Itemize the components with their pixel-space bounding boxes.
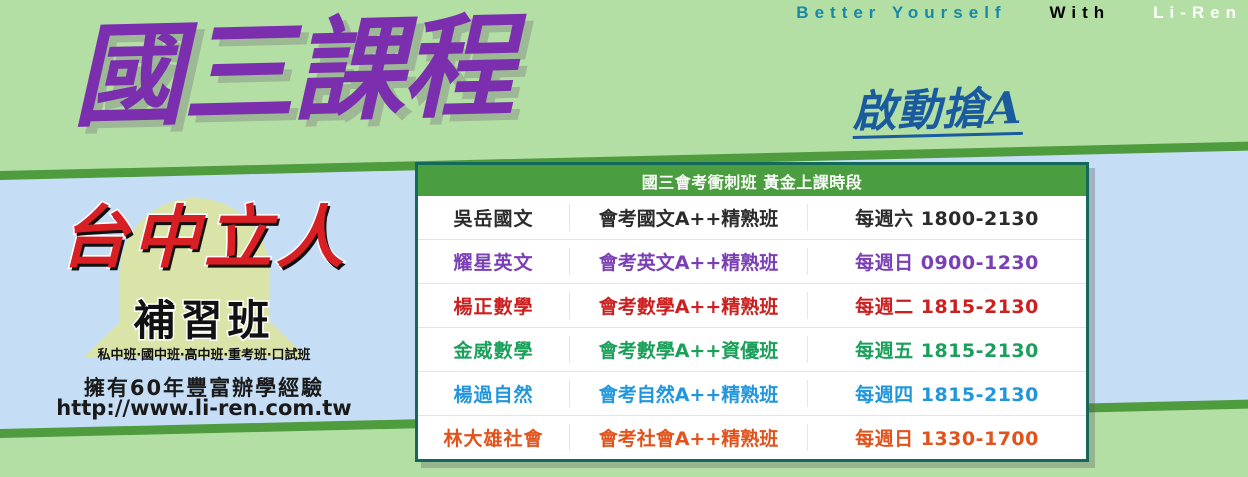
cell-time: 每週六 1800-2130 [808,204,1086,231]
cell-teacher: 金威數學 [418,336,570,363]
table-row: 金威數學會考數學A++資優班每週五 1815-2130 [418,328,1086,372]
cell-course: 會考數學A++資優班 [570,336,808,363]
table-row: 楊正數學會考數學A++精熟班每週二 1815-2130 [418,284,1086,328]
tagline-part-two: With [1050,3,1111,22]
tagline-part-three: Li-Ren [1153,3,1242,22]
table-row: 吳岳國文會考國文A++精熟班每週六 1800-2130 [418,196,1086,240]
cell-time: 每週日 0900-1230 [808,248,1086,275]
schedule-table-header: 國三會考衝刺班 黃金上課時段 [418,165,1086,196]
cell-time: 每週五 1815-2130 [808,336,1086,363]
brand-tagline: Better Yourself With Li-Ren [796,3,1242,23]
promo-poster: Better Yourself With Li-Ren 國三課程 啟動搶A 台中… [0,0,1248,477]
school-logo: 台中立人 補習班 私中班‧國中班‧高中班‧重考班‧口試班 擁有60年豐富辦學經驗… [28,196,380,420]
logo-school-name: 台中立人 [28,204,380,272]
logo-class-list: 私中班‧國中班‧高中班‧重考班‧口試班 [28,344,380,363]
cell-teacher: 楊正數學 [418,292,570,319]
cell-time: 每週二 1815-2130 [808,292,1086,319]
cell-course: 會考數學A++精熟班 [570,292,808,319]
table-row: 林大雄社會會考社會A++精熟班每週日 1330-1700 [418,416,1086,459]
logo-school-type: 補習班 [28,300,380,342]
logo-website-url[interactable]: http://www.li-ren.com.tw [28,396,380,420]
schedule-table-body: 吳岳國文會考國文A++精熟班每週六 1800-2130耀星英文會考英文A++精熟… [418,196,1086,459]
page-subtitle: 啟動搶A [851,72,1023,140]
cell-teacher: 林大雄社會 [418,424,570,451]
table-row: 耀星英文會考英文A++精熟班每週日 0900-1230 [418,240,1086,284]
cell-time: 每週日 1330-1700 [808,424,1086,451]
cell-teacher: 楊過自然 [418,380,570,407]
tagline-part-one: Better Yourself [796,3,1006,22]
cell-course: 會考自然A++精熟班 [570,380,808,407]
table-row: 楊過自然會考自然A++精熟班每週四 1815-2130 [418,372,1086,416]
cell-time: 每週四 1815-2130 [808,380,1086,407]
cell-teacher: 吳岳國文 [418,204,570,231]
cell-course: 會考國文A++精熟班 [570,204,808,231]
cell-teacher: 耀星英文 [418,248,570,275]
cell-course: 會考英文A++精熟班 [570,248,808,275]
schedule-table: 國三會考衝刺班 黃金上課時段 吳岳國文會考國文A++精熟班每週六 1800-21… [415,162,1089,462]
cell-course: 會考社會A++精熟班 [570,424,808,451]
page-title: 國三課程 [71,7,514,139]
